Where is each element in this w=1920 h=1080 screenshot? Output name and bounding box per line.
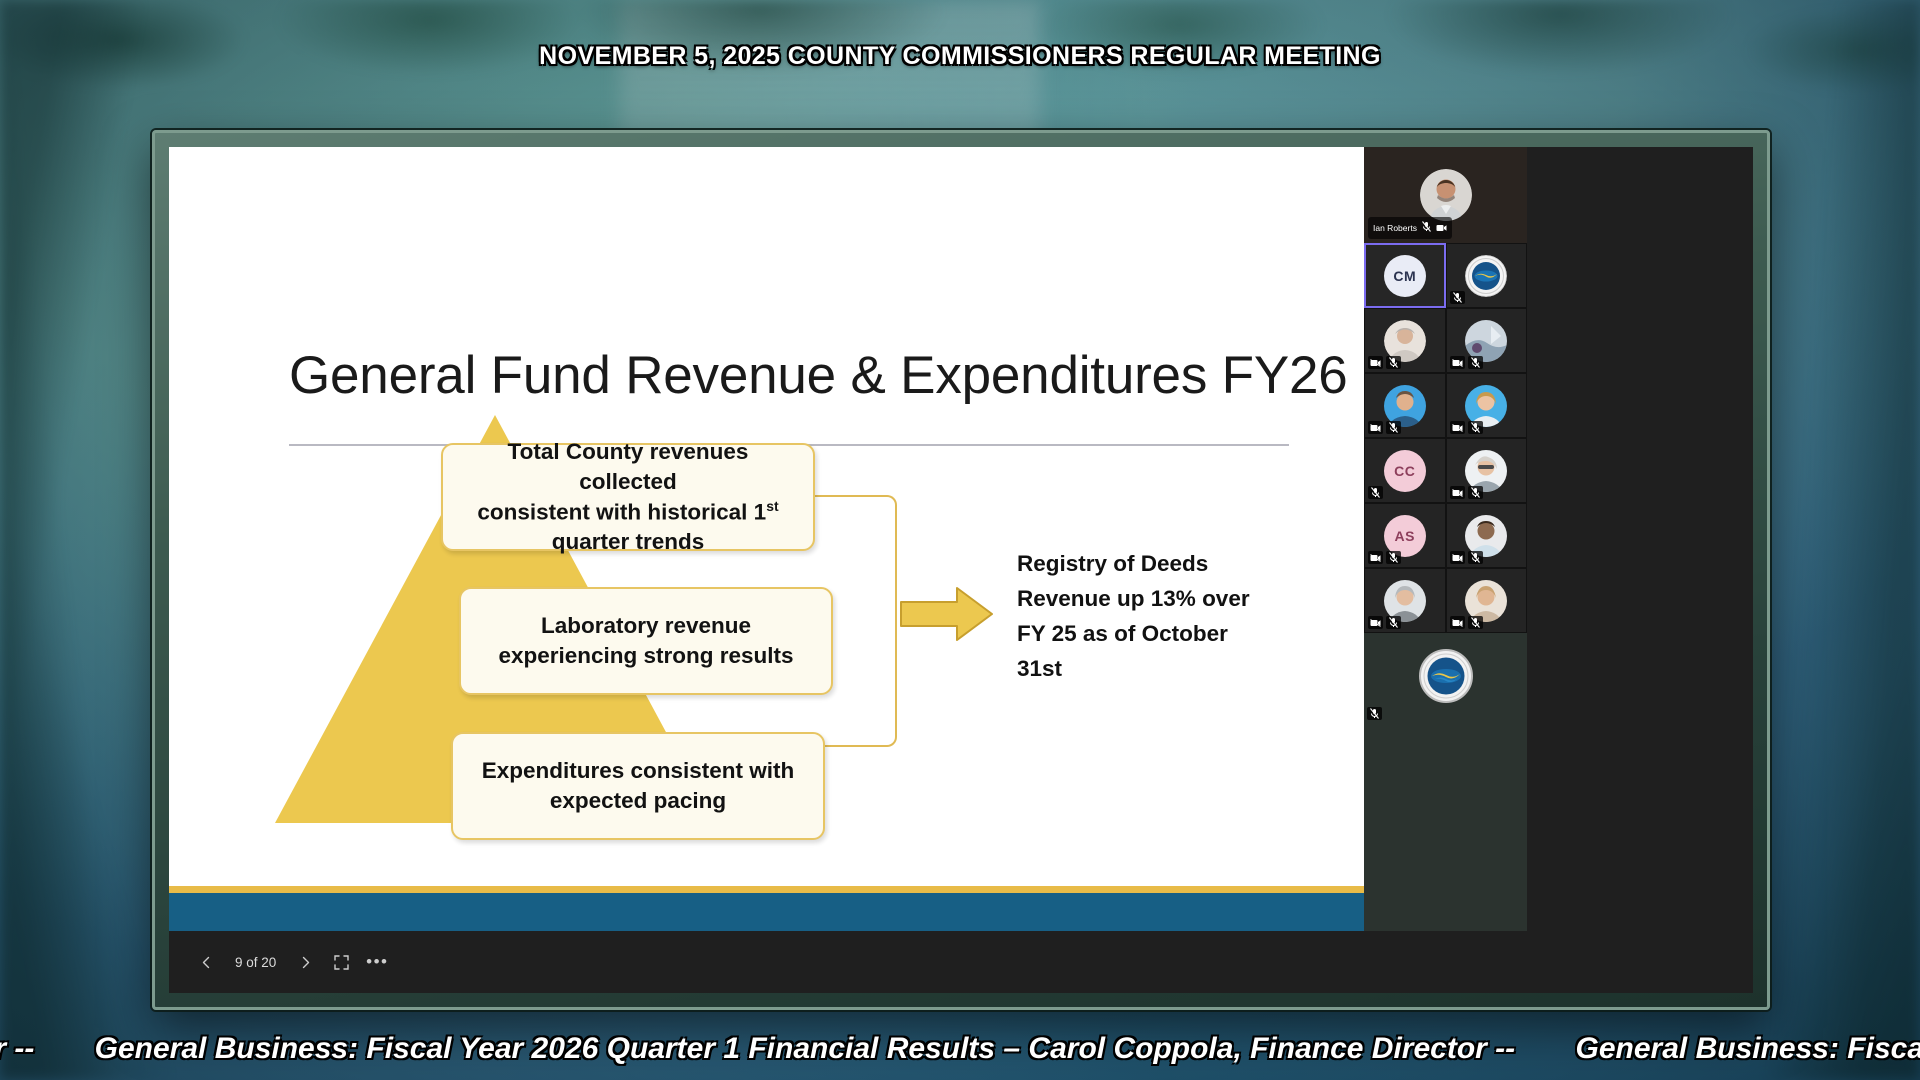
callout-revenues-line1: Total County revenues collected xyxy=(508,439,749,494)
callout-expenditures: Expenditures consistent with expected pa… xyxy=(451,732,825,840)
avatar xyxy=(1420,169,1472,221)
callout-revenues-line2: consistent with historical 1 xyxy=(477,499,766,524)
video-camera-off-icon xyxy=(1368,551,1383,564)
ticker-spacer-0 xyxy=(43,1032,95,1065)
video-camera-off-icon xyxy=(1450,356,1465,369)
participant-tile-p10[interactable] xyxy=(1446,503,1528,568)
county-seal-icon xyxy=(1465,255,1507,297)
participant-tile-cm[interactable]: CM xyxy=(1364,243,1446,308)
callout-laboratory: Laboratory revenue experiencing strong r… xyxy=(459,587,833,695)
video-camera-off-icon xyxy=(1368,616,1383,629)
microphone-muted-icon xyxy=(1468,421,1483,434)
tile-status-badges xyxy=(1450,291,1465,304)
video-camera-off-icon xyxy=(1368,421,1383,434)
microphone-muted-icon xyxy=(1422,219,1431,237)
participant-tile-p12[interactable] xyxy=(1446,568,1528,633)
callout-expenditures-line2: expected pacing xyxy=(550,788,726,813)
meeting-title-banner: NOVEMBER 5, 2025 COUNTY COMMISSIONERS RE… xyxy=(0,42,1920,71)
ticker-segment-0: tor -- xyxy=(0,1032,34,1065)
participant-tile-p4[interactable] xyxy=(1446,308,1528,373)
presentation-slide[interactable]: General Fund Revenue & Expenditures FY26… xyxy=(169,147,1364,937)
ticker-content: tor -- General Business: Fiscal Year 202… xyxy=(0,1032,1920,1066)
registry-result-text: Registry of Deeds Revenue up 13% over FY… xyxy=(1017,547,1267,687)
microphone-muted-icon xyxy=(1386,421,1401,434)
participant-spotlight[interactable]: Ian Roberts xyxy=(1364,147,1527,243)
callout-revenues: Total County revenues collected consiste… xyxy=(441,443,815,551)
screen-share-content: General Fund Revenue & Expenditures FY26… xyxy=(169,147,1753,993)
microphone-muted-icon xyxy=(1368,486,1383,499)
callout-revenues-line3: quarter trends xyxy=(552,529,705,554)
tile-status-badges xyxy=(1368,356,1401,369)
participant-rail-filler xyxy=(1364,723,1527,937)
video-camera-off-icon xyxy=(1368,356,1383,369)
callout-expenditures-line1: Expenditures consistent with xyxy=(482,758,795,783)
county-seal-icon xyxy=(1419,649,1473,708)
tile-status-badges xyxy=(1368,551,1401,564)
tile-status-badges xyxy=(1450,551,1483,564)
participant-tile-county-seal[interactable] xyxy=(1364,633,1527,723)
callout-laboratory-line1: Laboratory revenue xyxy=(541,613,751,638)
tile-status-badges xyxy=(1368,616,1401,629)
participant-tile-p5[interactable] xyxy=(1364,373,1446,438)
meeting-title-text: NOVEMBER 5, 2025 COUNTY COMMISSIONERS RE… xyxy=(539,42,1381,70)
tile-status-badges xyxy=(1450,486,1483,499)
participant-tile-p8[interactable] xyxy=(1446,438,1528,503)
seal-tile-badges xyxy=(1367,707,1382,720)
broadcast-stage: NOVEMBER 5, 2025 COUNTY COMMISSIONERS RE… xyxy=(0,0,1920,1080)
microphone-muted-icon xyxy=(1468,551,1483,564)
callout-revenues-ordinal: st xyxy=(766,498,778,514)
slide-navigation-bar[interactable]: 9 of 20 ••• xyxy=(169,931,1527,993)
participant-rail[interactable]: Ian Roberts CMCCAS xyxy=(1364,147,1527,937)
slide-title: General Fund Revenue & Expenditures FY26 xyxy=(289,345,1348,406)
tile-status-badges xyxy=(1368,486,1383,499)
participant-tiles[interactable]: CMCCAS xyxy=(1364,243,1527,633)
microphone-muted-icon xyxy=(1367,707,1382,720)
ticker-spacer-1 xyxy=(1524,1032,1576,1065)
right-arrow-icon xyxy=(899,585,995,643)
avatar-initials: CC xyxy=(1384,450,1426,492)
tile-status-badges xyxy=(1368,421,1401,434)
video-camera-off-icon xyxy=(1450,486,1465,499)
callout-laboratory-line2: experiencing strong results xyxy=(498,643,793,668)
video-camera-icon xyxy=(1436,219,1447,237)
next-slide-button[interactable] xyxy=(290,947,320,977)
spotlight-name: Ian Roberts xyxy=(1373,223,1417,233)
microphone-muted-icon xyxy=(1468,486,1483,499)
slide-gold-accent-bar xyxy=(169,886,1364,893)
video-camera-off-icon xyxy=(1450,616,1465,629)
ticker-segment-2: General Business: Fiscal Year 2026 xyxy=(1576,1032,1920,1065)
participant-tile-as[interactable]: AS xyxy=(1364,503,1446,568)
avatar-initials: CM xyxy=(1384,255,1426,297)
participant-tile-p11[interactable] xyxy=(1364,568,1446,633)
participant-tile-p3[interactable] xyxy=(1364,308,1446,373)
spotlight-name-chip: Ian Roberts xyxy=(1368,217,1452,239)
slide-page-indicator: 9 of 20 xyxy=(227,955,284,970)
participant-tile-p6[interactable] xyxy=(1446,373,1528,438)
more-options-button[interactable]: ••• xyxy=(362,947,392,977)
tile-status-badges xyxy=(1450,616,1483,629)
microphone-muted-icon xyxy=(1386,616,1401,629)
tile-status-badges xyxy=(1450,356,1483,369)
participant-tile-seal1[interactable] xyxy=(1446,243,1528,308)
microphone-muted-icon xyxy=(1468,616,1483,629)
video-camera-off-icon xyxy=(1450,551,1465,564)
microphone-muted-icon xyxy=(1386,356,1401,369)
microphone-muted-icon xyxy=(1468,356,1483,369)
video-camera-off-icon xyxy=(1450,421,1465,434)
microphone-muted-icon xyxy=(1450,291,1465,304)
fit-to-screen-icon[interactable] xyxy=(326,947,356,977)
ticker-segment-1: General Business: Fiscal Year 2026 Quart… xyxy=(95,1032,1516,1065)
tile-status-badges xyxy=(1450,421,1483,434)
microphone-muted-icon xyxy=(1386,551,1401,564)
participant-tile-cc[interactable]: CC xyxy=(1364,438,1446,503)
news-ticker: tor -- General Business: Fiscal Year 202… xyxy=(0,1018,1920,1080)
previous-slide-button[interactable] xyxy=(191,947,221,977)
screen-share-frame: General Fund Revenue & Expenditures FY26… xyxy=(152,130,1770,1010)
